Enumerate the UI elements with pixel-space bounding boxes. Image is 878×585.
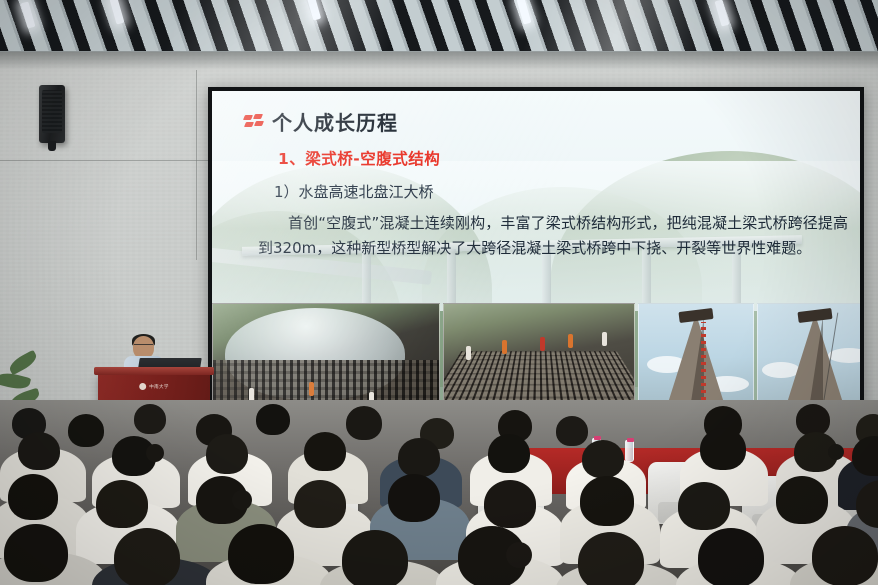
audience-head — [582, 440, 624, 478]
audience-head — [256, 404, 290, 435]
worker-figure — [502, 340, 507, 354]
bottle-cap — [627, 438, 634, 442]
ceiling-light-glow — [0, 0, 878, 58]
audience-head — [68, 414, 104, 447]
hair-bun — [506, 542, 532, 568]
hair-bun — [828, 444, 844, 460]
worker-figure — [602, 332, 607, 346]
glasses-icon — [134, 344, 153, 349]
audience-head — [114, 528, 180, 585]
red-bullet-icon — [244, 114, 263, 129]
wall-seam-horizontal — [0, 160, 210, 161]
ceiling — [0, 0, 878, 58]
audience-head — [228, 524, 294, 584]
plant-leaf — [7, 350, 40, 376]
audience-head — [398, 438, 440, 477]
slide-title-row: 个人成长历程 — [244, 107, 398, 136]
slide-subtitle: 1、梁式桥-空腹式结构 — [278, 147, 440, 169]
audience-head — [206, 434, 248, 474]
audience-head — [578, 532, 644, 585]
wall-seam-vertical — [196, 70, 197, 260]
audience-head — [4, 524, 68, 582]
worker-figure — [309, 382, 314, 396]
audience-head — [342, 530, 408, 585]
audience-head — [580, 476, 634, 526]
audience-head — [8, 474, 58, 520]
slide-paragraph: 首创“空腹式”混凝土连续刚构，丰富了梁式桥结构形式，把纯混凝土梁式桥跨径提高到3… — [258, 211, 848, 261]
audience-head — [488, 434, 530, 473]
water-bottle — [625, 440, 634, 462]
audience-head — [484, 480, 536, 528]
podium-logo-text: 中南大学 — [149, 384, 169, 390]
wall-speaker-icon — [39, 85, 65, 143]
audience-head — [18, 432, 60, 470]
audience-head — [556, 416, 588, 446]
logo-emblem-icon — [139, 383, 146, 390]
slide-list-item: 1）水盘高速北盘江大桥 — [274, 181, 434, 202]
audience-head — [96, 480, 148, 528]
worker-figure — [568, 334, 573, 348]
hair-bun — [232, 490, 252, 510]
hair-bun — [146, 444, 164, 462]
university-logo: 中南大学 — [139, 383, 169, 390]
wall-top-shadow — [0, 52, 878, 70]
audience-head — [698, 528, 764, 585]
lecture-hall-screenshot: 个人成长历程 1、梁式桥-空腹式结构 1）水盘高速北盘江大桥 首创“空腹式”混凝… — [0, 0, 878, 585]
audience-area — [0, 400, 878, 585]
speaker-grille — [42, 90, 62, 133]
worker-figure — [540, 337, 545, 351]
podium-top-ledge — [94, 367, 214, 375]
audience-head — [294, 480, 346, 528]
speaker-mount — [48, 141, 56, 151]
audience-head — [346, 406, 382, 440]
audience-head — [700, 428, 746, 470]
audience-head — [388, 474, 440, 522]
audience-head — [134, 404, 166, 434]
projection-screen[interactable]: 个人成长历程 1、梁式桥-空腹式结构 1）水盘高速北盘江大桥 首创“空腹式”混凝… — [208, 87, 864, 427]
slide-title: 个人成长历程 — [272, 107, 398, 136]
worker-figure — [466, 346, 471, 360]
audience-head — [776, 476, 828, 524]
slide-surface: 个人成长历程 1、梁式桥-空腹式结构 1）水盘高速北盘江大桥 首创“空腹式”混凝… — [212, 91, 860, 423]
audience-head — [812, 526, 878, 585]
audience-head — [304, 432, 346, 471]
audience-head — [678, 482, 730, 530]
